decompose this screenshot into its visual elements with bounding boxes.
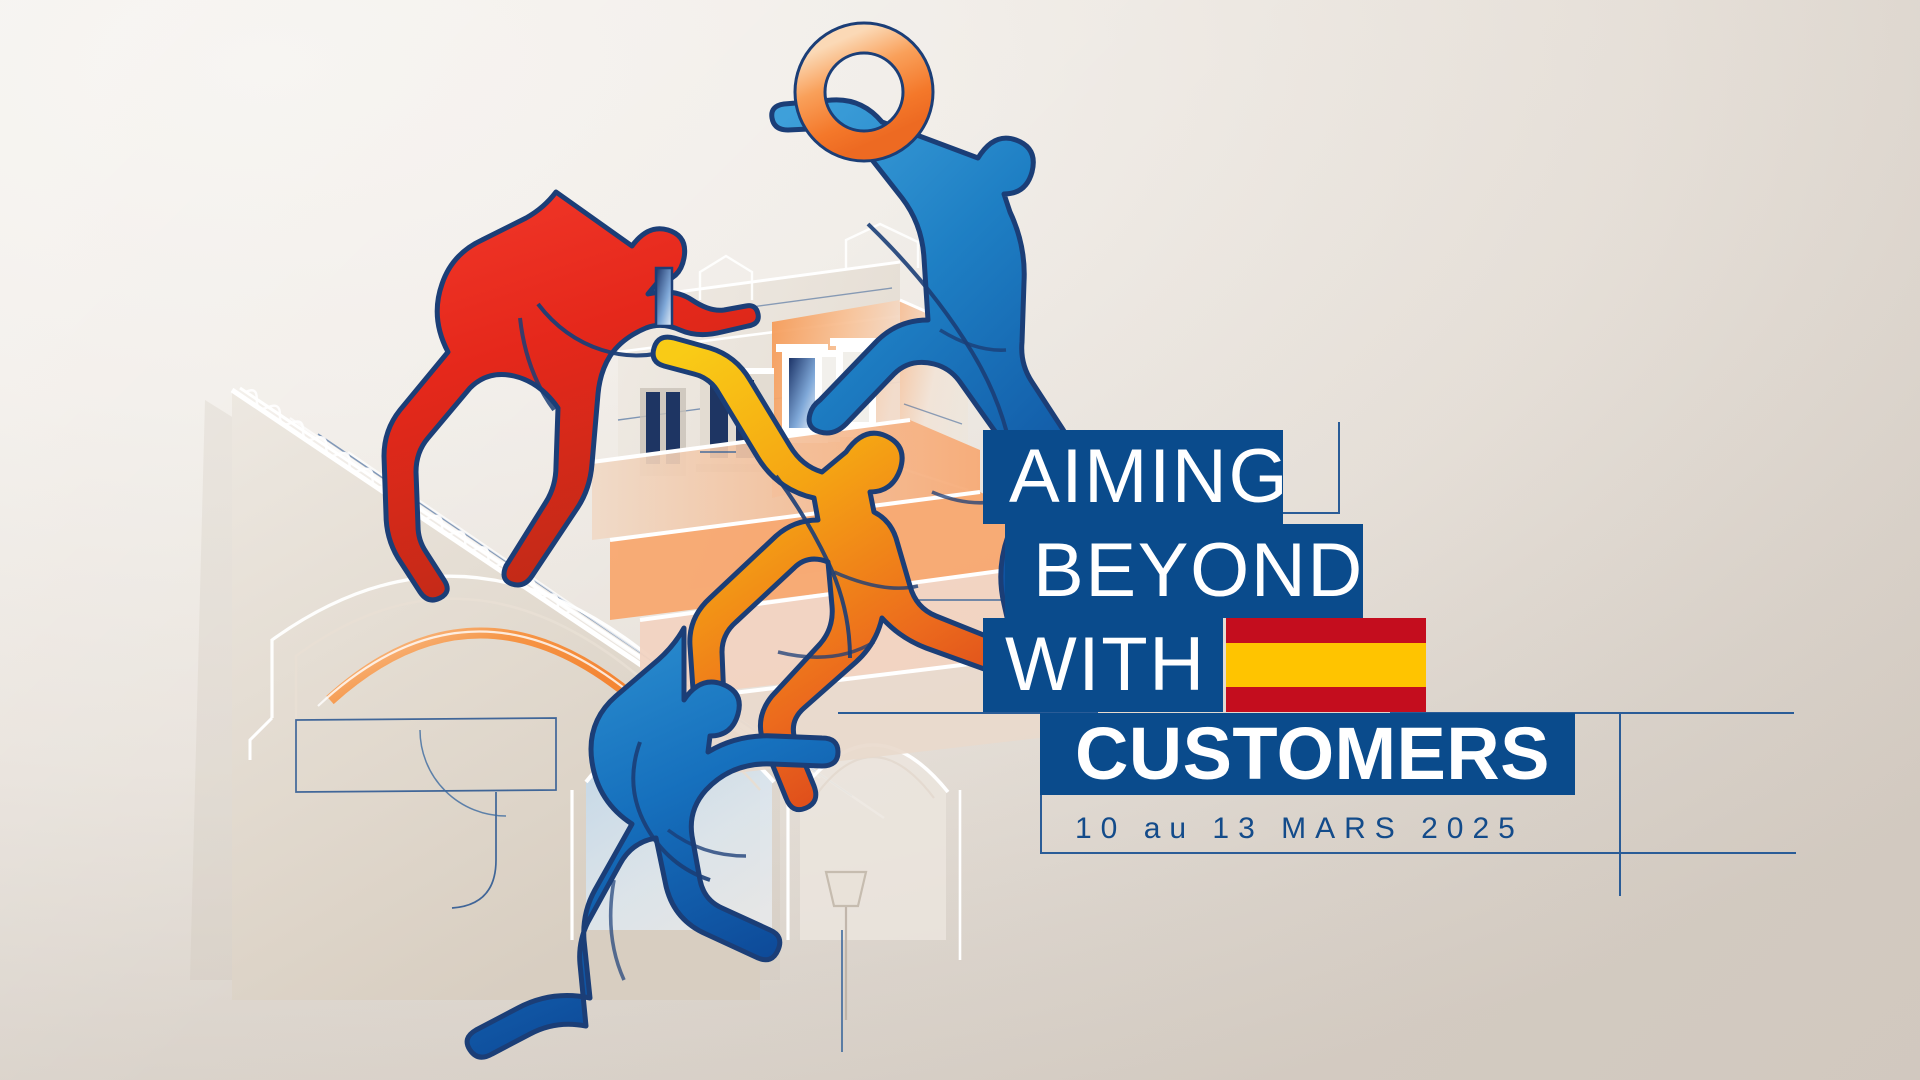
spain-flag-icon (1226, 618, 1426, 712)
title-line-customers: CUSTOMERS (1040, 713, 1575, 795)
title-line-beyond: BEYOND (1005, 524, 1363, 618)
title-line-beyond-text: BEYOND (1033, 533, 1364, 609)
orange-ring (795, 23, 933, 161)
street-lamp (826, 872, 866, 1020)
event-logo-lockup: AIMING BEYOND WITH CUSTOMERS 10 au 13 MA… (983, 430, 1683, 900)
held-panel (656, 268, 672, 326)
title-line-aiming: AIMING (983, 430, 1283, 524)
title-line-with: WITH (983, 618, 1223, 712)
title-line-with-text: WITH (1005, 627, 1206, 703)
title-line-customers-text: CUSTOMERS (1075, 717, 1550, 791)
title-line-aiming-text: AIMING (1009, 439, 1289, 515)
event-date: 10 au 13 MARS 2025 (1075, 812, 1524, 846)
poster-canvas: AIMING BEYOND WITH CUSTOMERS 10 au 13 MA… (0, 0, 1920, 1080)
